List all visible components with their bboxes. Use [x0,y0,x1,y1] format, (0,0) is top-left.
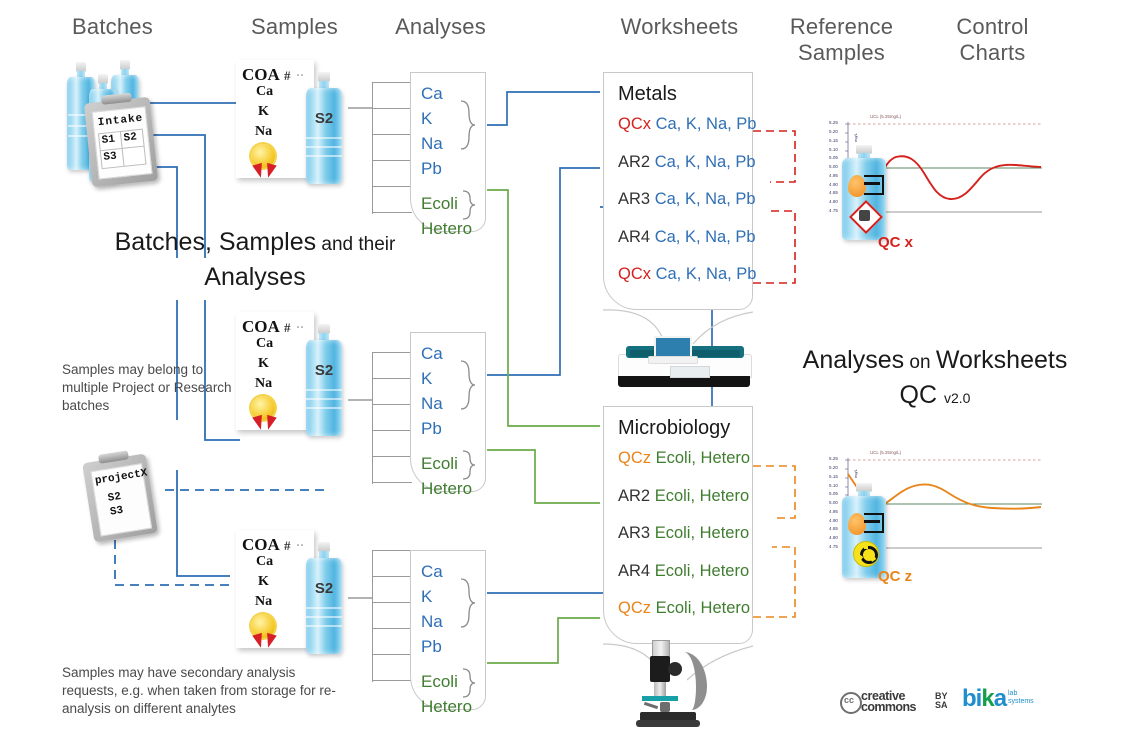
sample-bottle-label-1: S2 [304,110,344,127]
worksheet-row-code-metals-4: QCx [618,265,651,283]
worksheet-row-micro-4[interactable]: QCz Ecoli, Hetero [604,590,752,628]
qcz-ytick-4: 5.05 [822,491,838,497]
caption-main-line2: Analyses [60,261,450,293]
qcz-ytick-0: 5.25 [822,456,838,462]
qcz-ytick-7: 4.90 [822,518,838,524]
analysis-3-braces [455,557,487,707]
reference-samples-line1: Reference [769,14,914,40]
coa-sheet-2: COA # ·· Ca K Na [236,312,314,430]
intake-cell-s3: S3 [103,151,117,164]
qcx-ytick-9: 4.80 [822,199,838,205]
qc-label-z: QC z [878,568,912,585]
worksheet-card-metals[interactable]: Metals QCx Ca, K, Na, Pb AR2 Ca, K, Na, … [603,72,753,310]
qcx-ytick-7: 4.90 [822,182,838,188]
analysis-1-braces [455,79,487,229]
worksheet-row-analytes-metals-4: Ca, K, Na, Pb [656,265,757,283]
coa-hash-3: # [284,538,291,554]
worksheet-row-analytes-micro-2: Ecoli, Hetero [655,524,749,542]
worksheet-row-micro-2[interactable]: AR3 Ecoli, Hetero [604,515,752,553]
control-chart-qcz-ucl-label: UCL (5.25mg/L) [870,450,901,455]
qcz-ytick-5: 5.00 [822,500,838,506]
column-heading-analyses: Analyses [368,14,513,40]
worksheet-row-metals-3[interactable]: AR4 Ca, K, Na, Pb [604,219,752,257]
coa-analyte-3-1: K [258,574,269,590]
worksheet-row-code-metals-3: AR4 [618,228,650,246]
sample-card-2: COA # ·· Ca K Na S2 [236,312,351,437]
qcz-ytick-3: 5.10 [822,483,838,489]
coa-sheet-1: COA # ·· Ca K Na [236,60,314,178]
coa-analyte-2-0: Ca [256,336,273,352]
column-heading-samples: Samples [222,14,367,40]
cc-text-line2: commons [861,701,916,714]
worksheet-row-analytes-micro-3: Ecoli, Hetero [655,562,749,580]
analysis-card-3[interactable]: Ca K Na Pb Ecoli Hetero [410,550,486,710]
qc-label-x: QC x [878,234,913,251]
column-heading-batches: Batches [40,14,185,40]
coa-analyte-3-2: Na [255,594,272,610]
coa-analyte-2-1: K [258,356,269,372]
bika-letter-k: k [981,685,993,712]
worksheet-row-code-micro-3: AR4 [618,562,650,580]
qcx-ytick-8: 4.85 [822,190,838,196]
qcz-ytick-10: 4.75 [822,544,838,550]
analysis-2-braces [455,339,487,489]
coa-analyte-1-2: Na [255,124,272,140]
caption-analyses-on-worksheets-qc: Analyses on Worksheets QC v2.0 [770,344,1100,414]
sample-bottle-2: S2 [304,324,344,436]
projectx-row-s2: S2 [107,491,122,505]
worksheet-row-analytes-micro-0: Ecoli, Hetero [656,449,750,467]
creative-commons-logo[interactable]: cc creative commons BY SA [840,688,950,718]
intake-cell-s1: S1 [101,134,115,147]
diagram-canvas: Batches Samples Analyses Worksheets Refe… [0,0,1131,750]
worksheet-row-code-metals-2: AR3 [618,190,650,208]
qcx-ytick-6: 4.95 [822,173,838,179]
worksheet-row-analytes-metals-2: Ca, K, Na, Pb [655,190,756,208]
worksheet-row-analytes-micro-4: Ecoli, Hetero [656,599,750,617]
coa-analyte-3-0: Ca [256,554,273,570]
analysis-ladder-1 [372,82,412,214]
caption-batches-samples-analyses: Batches, Samples and their Analyses [60,226,450,293]
qcx-ylabel: mg/L [853,133,858,142]
bika-letter-a: a [994,685,1006,712]
control-charts-line2: Charts [920,40,1065,66]
analysis-card-1[interactable]: Ca K Na Pb Ecoli Hetero [410,72,486,232]
qcz-ytick-9: 4.80 [822,535,838,541]
column-heading-control-charts: Control Charts [920,14,1065,66]
cc-glyph: cc [844,695,854,705]
qcx-ytick-5: 5.00 [822,164,838,170]
qcz-ytick-6: 4.95 [822,509,838,515]
control-charts-line1: Control [920,14,1065,40]
column-heading-worksheets: Worksheets [607,14,752,40]
note-secondary-analysis-requests: Samples may have secondary analysis requ… [62,664,337,718]
caption-right-version: v2.0 [944,390,970,406]
qcx-ytick-4: 5.05 [822,155,838,161]
bika-lab-systems-logo[interactable]: bika lab systems [962,686,1072,718]
projectx-row-s3: S3 [109,505,124,519]
qcz-ytick-8: 4.85 [822,526,838,532]
qcz-ylabel: mg/L [853,469,858,478]
qcx-ytick-1: 5.20 [822,129,838,135]
worksheet-row-code-micro-0: QCz [618,449,651,467]
analysis-ladder-3 [372,550,412,682]
worksheet-title-metals: Metals [604,73,752,106]
projectx-clipboard: projectX S2 S3 [82,453,158,542]
worksheet-row-code-micro-1: AR2 [618,487,650,505]
qcz-ytick-2: 5.15 [822,474,838,480]
coa-hash-2: # [284,320,291,336]
worksheet-row-code-metals-0: QCx [618,115,651,133]
caption-right-line1-a: Analyses [803,346,904,374]
coa-hash-dots-2: ·· [296,320,304,335]
coa-hash-dots-1: ·· [296,68,304,83]
worksheet-row-metals-4[interactable]: QCx Ca, K, Na, Pb [604,256,752,294]
coa-hash-1: # [284,68,291,84]
worksheet-card-microbiology[interactable]: Microbiology QCz Ecoli, Hetero AR2 Ecoli… [603,406,753,644]
coa-sheet-3: COA # ·· Ca K Na [236,530,314,648]
intake-clipboard: Intake S1 S2 S3 [84,97,158,187]
coa-title-2: COA [242,317,280,337]
caption-main-line1-b: and their [316,234,395,255]
sample-bottle-label-3: S2 [304,580,344,597]
qcx-ytick-3: 5.10 [822,147,838,153]
analysis-ladder-2 [372,352,412,484]
qcz-ytick-1: 5.20 [822,465,838,471]
reference-samples-line2: Samples [769,40,914,66]
bika-sub-lab: lab [1008,690,1017,697]
note-samples-multiple-batches: Samples may belong to multiple Project o… [62,361,237,415]
bika-wordmark: bika [962,686,1006,712]
worksheet-title-microbiology: Microbiology [604,407,752,440]
worksheet-row-micro-3[interactable]: AR4 Ecoli, Hetero [604,553,752,591]
qcx-ytick-2: 5.15 [822,138,838,144]
sample-bottle-1: S2 [304,72,344,184]
worksheet-row-analytes-micro-1: Ecoli, Hetero [655,487,749,505]
microscope-icon [624,640,720,732]
analyzer-instrument-icon [618,336,750,388]
sample-card-3: COA # ·· Ca K Na S2 [236,530,351,655]
bika-sub-systems: systems [1008,698,1034,705]
worksheet-row-analytes-metals-1: Ca, K, Na, Pb [655,153,756,171]
coa-analyte-1-0: Ca [256,84,273,100]
qcx-ytick-0: 5.25 [822,120,838,126]
coa-analyte-2-2: Na [255,376,272,392]
caption-right-line1-b: on [904,352,936,373]
worksheet-row-metals-1[interactable]: AR2 Ca, K, Na, Pb [604,144,752,182]
reference-sample-bottle-qcz [840,483,888,578]
coa-hash-dots-3: ·· [296,538,304,553]
column-heading-reference-samples: Reference Samples [769,14,914,66]
sample-card-1: COA # ·· Ca K Na S2 [236,60,351,185]
worksheet-row-code-micro-2: AR3 [618,524,650,542]
caption-right-line2-a: QC [900,381,938,409]
coa-analyte-1-1: K [258,104,269,120]
worksheet-row-code-metals-1: AR2 [618,153,650,171]
intake-cell-s2: S2 [123,131,137,144]
sample-bottle-label-2: S2 [304,362,344,379]
cc-sa-text: SA [935,700,948,710]
worksheet-row-metals-2[interactable]: AR3 Ca, K, Na, Pb [604,181,752,219]
worksheet-row-analytes-metals-3: Ca, K, Na, Pb [655,228,756,246]
caption-main-line1-a: Batches, Samples [115,228,317,256]
bika-letter-b: b [962,685,976,712]
coa-title-3: COA [242,535,280,555]
worksheet-row-micro-0[interactable]: QCz Ecoli, Hetero [604,440,752,478]
worksheet-row-micro-1[interactable]: AR2 Ecoli, Hetero [604,478,752,516]
caption-right-line1-c: Worksheets [936,346,1068,374]
sample-bottle-3: S2 [304,542,344,654]
coa-title-1: COA [242,65,280,85]
worksheet-row-metals-0[interactable]: QCx Ca, K, Na, Pb [604,106,752,144]
worksheet-row-code-micro-4: QCz [618,599,651,617]
worksheet-row-analytes-metals-0: Ca, K, Na, Pb [656,115,757,133]
control-chart-qcx-ucl-label: UCL (5.25mg/L) [870,114,901,119]
qcx-ytick-10: 4.75 [822,208,838,214]
biohazard-icon [853,541,879,567]
analysis-card-2[interactable]: Ca K Na Pb Ecoli Hetero [410,332,486,492]
reference-sample-bottle-qcx [840,145,888,240]
